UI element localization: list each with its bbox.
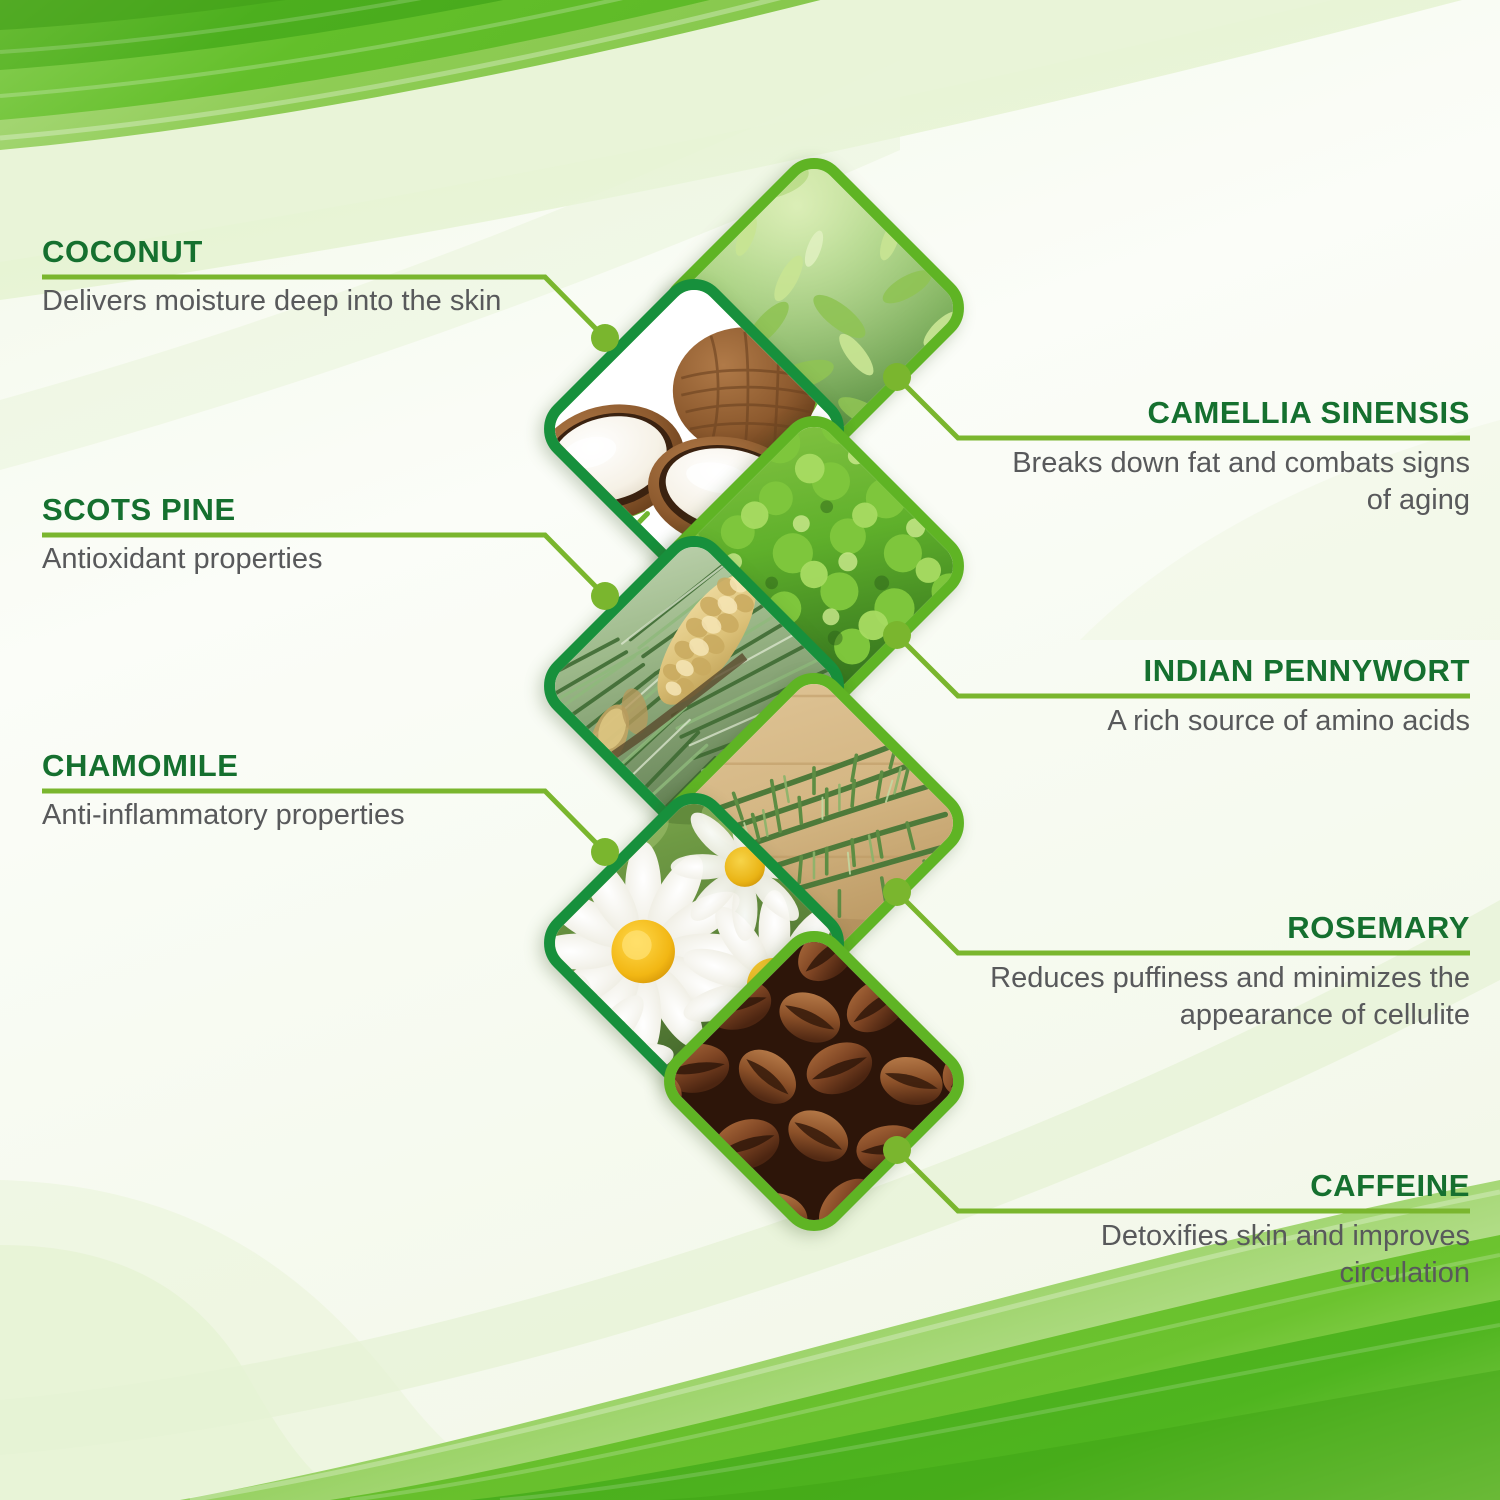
label-title-scots-pine: SCOTS PINE [42, 494, 512, 527]
label-desc-coconut: Delivers moisture deep into the skin [42, 283, 512, 321]
infographic-canvas: COCONUT Delivers moisture deep into the … [0, 0, 1500, 1500]
label-title-camellia-sinensis: CAMELLIA SINENSIS [990, 397, 1470, 430]
label-desc-rosemary: Reduces puffiness and minimizes the appe… [990, 960, 1470, 1035]
caption-indian-pennywort: INDIAN PENNYWORT A rich source of amino … [990, 655, 1470, 740]
caption-camellia-sinensis: CAMELLIA SINENSIS Breaks down fat and co… [990, 397, 1470, 520]
label-desc-camellia-sinensis: Breaks down fat and combats signs of agi… [990, 445, 1470, 520]
caption-rosemary: ROSEMARY Reduces puffiness and minimizes… [990, 912, 1470, 1035]
caption-scots-pine: SCOTS PINE Antioxidant properties [42, 494, 512, 578]
label-title-rosemary: ROSEMARY [990, 912, 1470, 945]
label-desc-chamomile: Anti-inflammatory properties [42, 797, 542, 835]
label-title-caffeine: CAFFEINE [990, 1170, 1470, 1203]
label-desc-caffeine: Detoxifies skin and improves circulation [990, 1218, 1470, 1293]
label-title-coconut: COCONUT [42, 236, 512, 269]
label-title-indian-pennywort: INDIAN PENNYWORT [990, 655, 1470, 688]
label-desc-indian-pennywort: A rich source of amino acids [990, 703, 1470, 741]
label-desc-scots-pine: Antioxidant properties [42, 541, 512, 579]
label-title-chamomile: CHAMOMILE [42, 750, 542, 783]
caption-caffeine: CAFFEINE Detoxifies skin and improves ci… [990, 1170, 1470, 1293]
caption-coconut: COCONUT Delivers moisture deep into the … [42, 236, 512, 320]
caption-chamomile: CHAMOMILE Anti-inflammatory properties [42, 750, 542, 834]
